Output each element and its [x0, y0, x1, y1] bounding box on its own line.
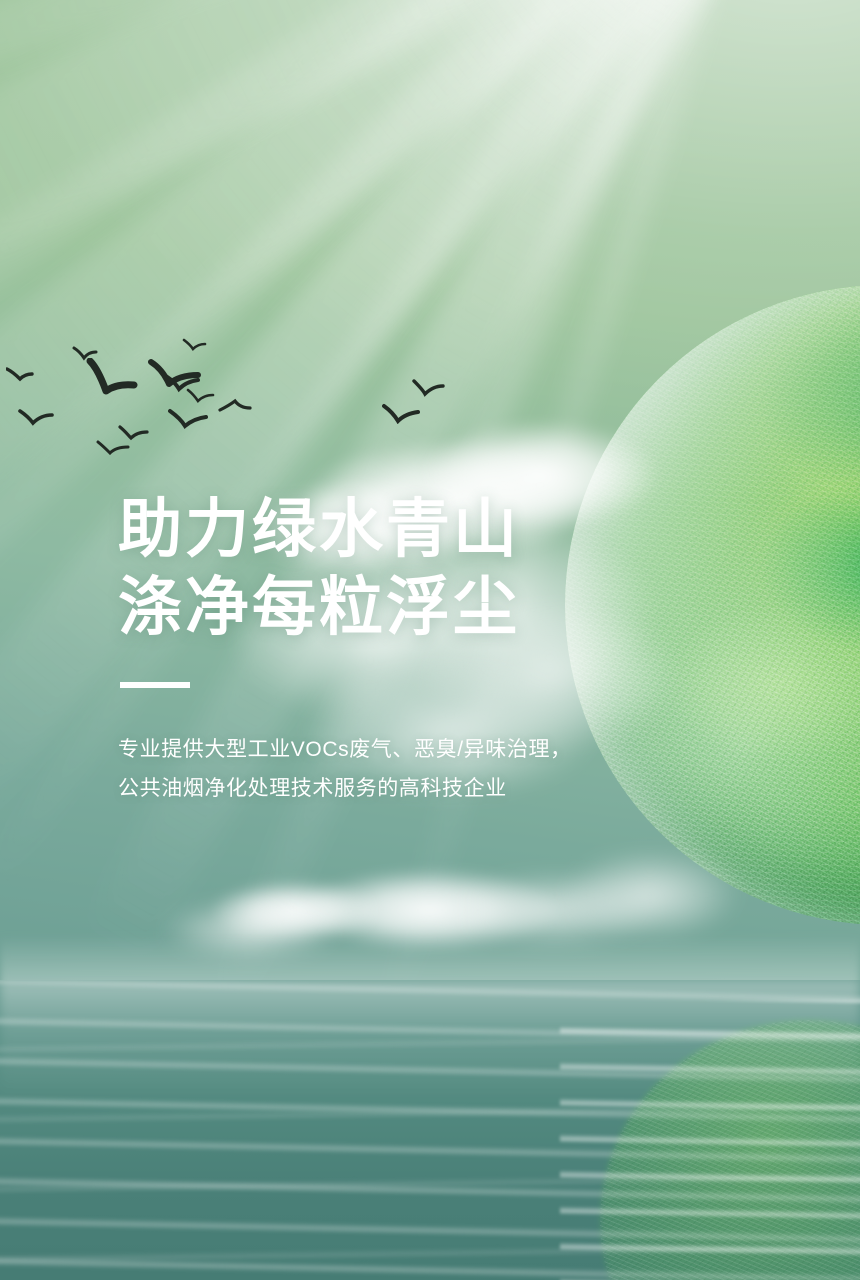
headline-line-1: 助力绿水青山	[118, 490, 718, 568]
bird-icon	[218, 398, 252, 416]
bird-icon	[382, 402, 422, 424]
bird-icon	[168, 408, 212, 430]
bird-icon	[18, 408, 58, 428]
bird-icon	[96, 440, 134, 458]
bird-icon	[86, 358, 150, 400]
divider-rule	[120, 682, 190, 688]
eco-poster: 助力绿水青山 涤净每粒浮尘 专业提供大型工业VOCs废气、恶臭/异味治理， 公共…	[0, 0, 860, 1280]
text-content: 助力绿水青山 涤净每粒浮尘 专业提供大型工业VOCs废气、恶臭/异味治理， 公共…	[118, 490, 718, 808]
birds-flock	[0, 330, 520, 470]
water-surface	[0, 980, 860, 1280]
bird-icon	[182, 338, 208, 354]
bird-icon	[186, 388, 216, 406]
subtitle-line-2: 公共油烟净化处理技术服务的高科技企业	[118, 769, 718, 808]
headline-line-2: 涤净每粒浮尘	[118, 568, 718, 646]
bird-icon	[148, 358, 204, 392]
subtitle-line-1: 专业提供大型工业VOCs废气、恶臭/异味治理，	[118, 730, 718, 769]
bird-icon	[412, 378, 446, 398]
bird-icon	[6, 366, 40, 384]
water-highlight	[0, 980, 860, 1100]
